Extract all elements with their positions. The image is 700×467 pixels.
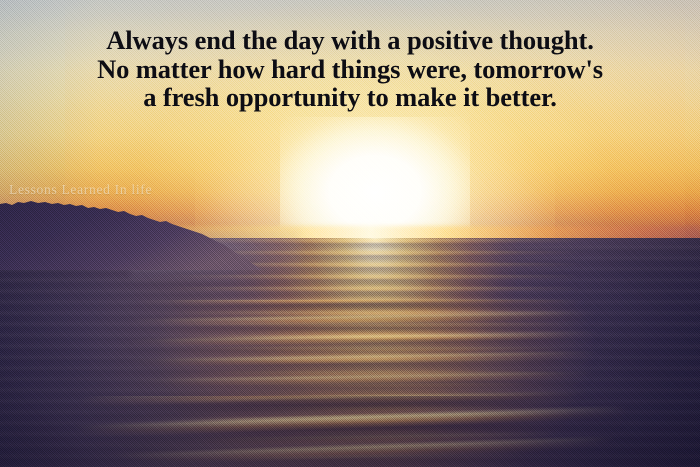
- quote-line-1: Always end the day with a positive thoug…: [0, 26, 700, 55]
- quote-line-3: a fresh opportunity to make it better.: [0, 83, 700, 112]
- quote-image: Lessons Learned In life Always end the d…: [0, 0, 700, 467]
- quote-text-block: Always end the day with a positive thoug…: [0, 26, 700, 112]
- quote-line-2: No matter how hard things were, tomorrow…: [0, 55, 700, 84]
